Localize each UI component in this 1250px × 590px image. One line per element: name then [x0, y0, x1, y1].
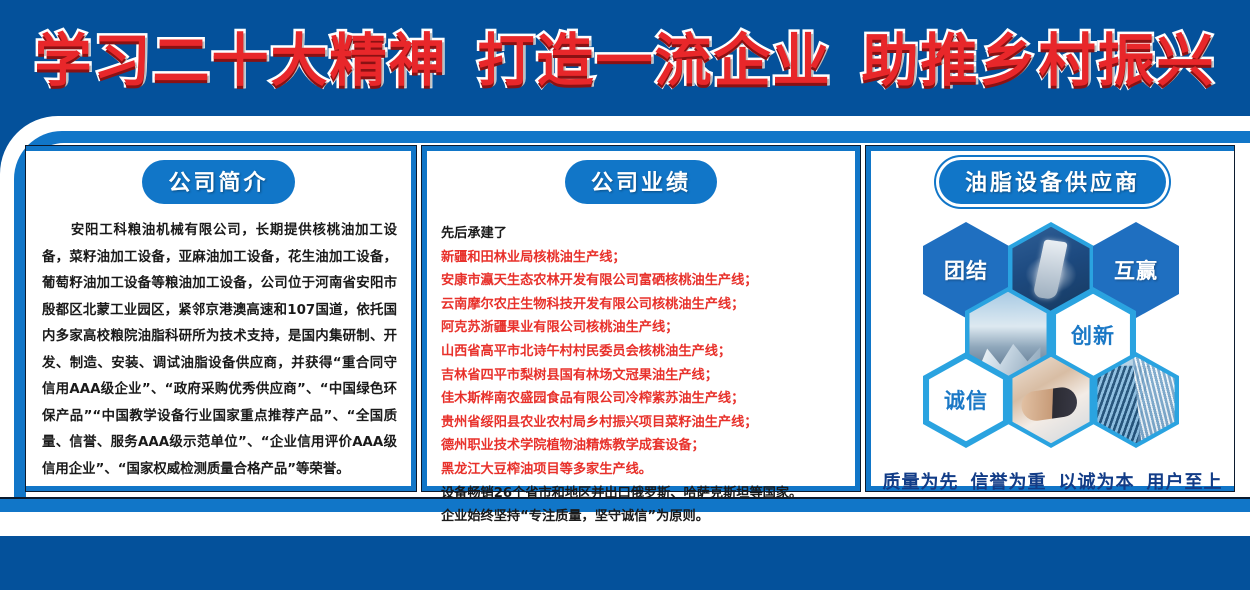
header-banner: 学习二十大精神打造一流企业助推乡村振兴 [0, 0, 1250, 112]
project-line: 德州职业技术学院植物油精炼教学成套设备； [441, 434, 843, 458]
panel1-title-wrap: 公司简介 [26, 160, 411, 204]
hex-label: 创新 [1071, 320, 1115, 350]
project-line: 黑龙江大豆榨油项目等多家生产线。 [441, 458, 843, 482]
performance-footer-2: 企业始终坚持“专注质量，坚守诚信”为原则。 [441, 505, 843, 529]
slogan-part: 质量为先 [883, 472, 959, 493]
office-tower-photo-icon [1097, 357, 1174, 443]
slogan-part: 用户至上 [1147, 472, 1223, 493]
panel-company-intro: 公司简介 安阳工科粮油机械有限公司，长期提供核桃油加工设备，菜籽油加工设备，亚麻… [26, 146, 416, 491]
panel3-title-pill: 油脂设备供应商 [939, 160, 1166, 204]
panel-company-performance: 公司业绩 先后承建了 新疆和田林业局核桃油生产线；安康市瀛天生态农林开发有限公司… [422, 146, 860, 491]
project-line: 吉林省四平市梨树县国有林场文冠果油生产线； [441, 364, 843, 388]
project-line: 阿克苏浙疆果业有限公司核桃油生产线； [441, 316, 843, 340]
company-intro-text: 安阳工科粮油机械有限公司，长期提供核桃油加工设备，菜籽油加工设备，亚麻油加工设备… [42, 218, 397, 483]
hex-label: 诚信 [944, 385, 988, 415]
headline-part-2: 打造一流企业 [478, 28, 832, 94]
project-line: 贵州省绥阳县农业农村局乡村振兴项目菜籽油生产线； [441, 411, 843, 435]
panel-supplier: 油脂设备供应商 团结互赢创新诚信 质量为先信誉为重以诚为本用户至上 [866, 146, 1234, 491]
performance-footer-1: 设备畅销26个省市和地区并出口俄罗斯、哈萨克斯坦等国家。 [441, 482, 843, 506]
project-line: 新疆和田林业局核桃油生产线； [441, 246, 843, 270]
headline-part-3: 助推乡村振兴 [862, 28, 1216, 94]
slogan-part: 信誉为重 [971, 472, 1047, 493]
performance-lead: 先后承建了 [441, 222, 843, 246]
company-intro-body: 安阳工科粮油机械有限公司，长期提供核桃油加工设备，菜籽油加工设备，亚麻油加工设备… [42, 223, 397, 477]
headline-part-1: 学习二十大精神 [35, 28, 448, 94]
panel3-title-wrap: 油脂设备供应商 [871, 160, 1234, 204]
hex-label: 互赢 [1114, 255, 1158, 285]
panel-row: 公司简介 安阳工科粮油机械有限公司，长期提供核桃油加工设备，菜籽油加工设备，亚麻… [26, 146, 1234, 491]
project-line: 山西省高平市北诗午村村民委员会核桃油生产线； [441, 340, 843, 364]
hex-label: 团结 [944, 255, 988, 285]
supplier-slogan: 质量为先信誉为重以诚为本用户至上 [871, 468, 1234, 494]
project-line: 佳木斯桦南农盛园食品有限公司冷榨紫苏油生产线； [441, 387, 843, 411]
headline: 学习二十大精神打造一流企业助推乡村振兴 [35, 15, 1216, 97]
project-lines: 新疆和田林业局核桃油生产线；安康市瀛天生态农林开发有限公司富硒核桃油生产线；云南… [441, 246, 843, 482]
hexagon-cluster: 团结互赢创新诚信 [871, 212, 1234, 464]
project-line: 云南摩尔农庄生物科技开发有限公司核桃油生产线； [441, 293, 843, 317]
handshake-photo-icon [1012, 357, 1089, 443]
project-line: 安康市瀛天生态农林开发有限公司富硒核桃油生产线； [441, 269, 843, 293]
performance-list: 先后承建了 新疆和田林业局核桃油生产线；安康市瀛天生态农林开发有限公司富硒核桃油… [441, 222, 843, 529]
panel2-title-wrap: 公司业绩 [427, 160, 855, 204]
panel2-title-pill: 公司业绩 [565, 160, 717, 204]
panel1-title-pill: 公司简介 [142, 160, 294, 204]
slogan-part: 以诚为本 [1059, 472, 1135, 493]
